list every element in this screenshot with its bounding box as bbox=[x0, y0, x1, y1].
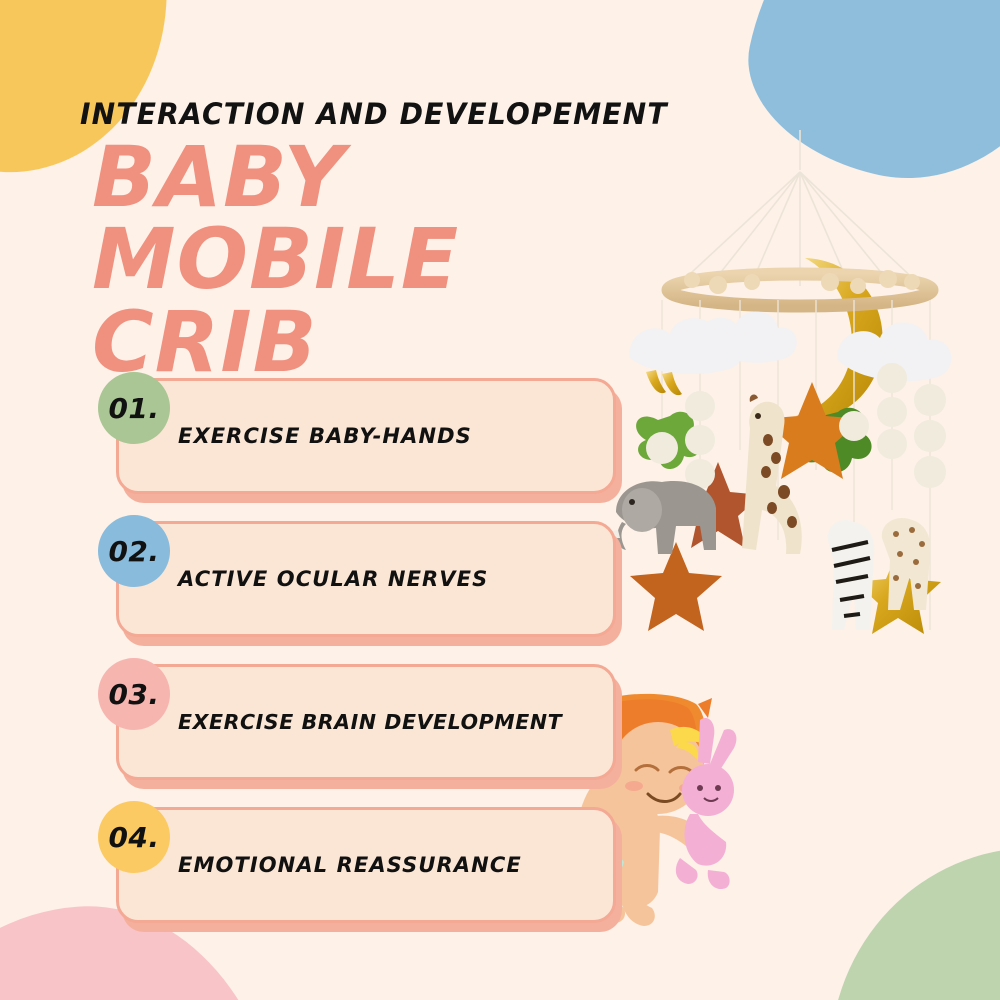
benefits-list: EXERCISE BABY-HANDS 01. ACTIVE OCULAR NE… bbox=[98, 372, 618, 944]
rust-star bbox=[630, 542, 722, 631]
item-number-badge: 02. bbox=[98, 515, 170, 587]
item-number-badge: 03. bbox=[98, 658, 170, 730]
item-label: EXERCISE BRAIN DEVELOPMENT bbox=[178, 710, 562, 734]
item-number-badge: 01. bbox=[98, 372, 170, 444]
felt-zebra bbox=[828, 520, 874, 630]
list-item[interactable]: EXERCISE BRAIN DEVELOPMENT 03. bbox=[98, 658, 618, 801]
kicker-text: INTERACTION AND DEVELOPEMENT bbox=[80, 97, 668, 131]
list-item[interactable]: EXERCISE BABY-HANDS 01. bbox=[98, 372, 618, 515]
item-label: EXERCISE BABY-HANDS bbox=[178, 424, 472, 448]
poster-canvas: INTERACTION AND DEVELOPEMENT BABY MOBILE… bbox=[0, 0, 1000, 1000]
list-item[interactable]: EMOTIONAL REASSURANCE 04. bbox=[98, 801, 618, 944]
item-number-badge: 04. bbox=[98, 801, 170, 873]
blob-bottom-right bbox=[830, 848, 1000, 1000]
list-item[interactable]: ACTIVE OCULAR NERVES 02. bbox=[98, 515, 618, 658]
item-label: ACTIVE OCULAR NERVES bbox=[178, 567, 488, 591]
felt-elephant bbox=[606, 481, 716, 554]
item-label: EMOTIONAL REASSURANCE bbox=[178, 853, 522, 877]
baby-mobile-crib-photo bbox=[600, 110, 1000, 710]
